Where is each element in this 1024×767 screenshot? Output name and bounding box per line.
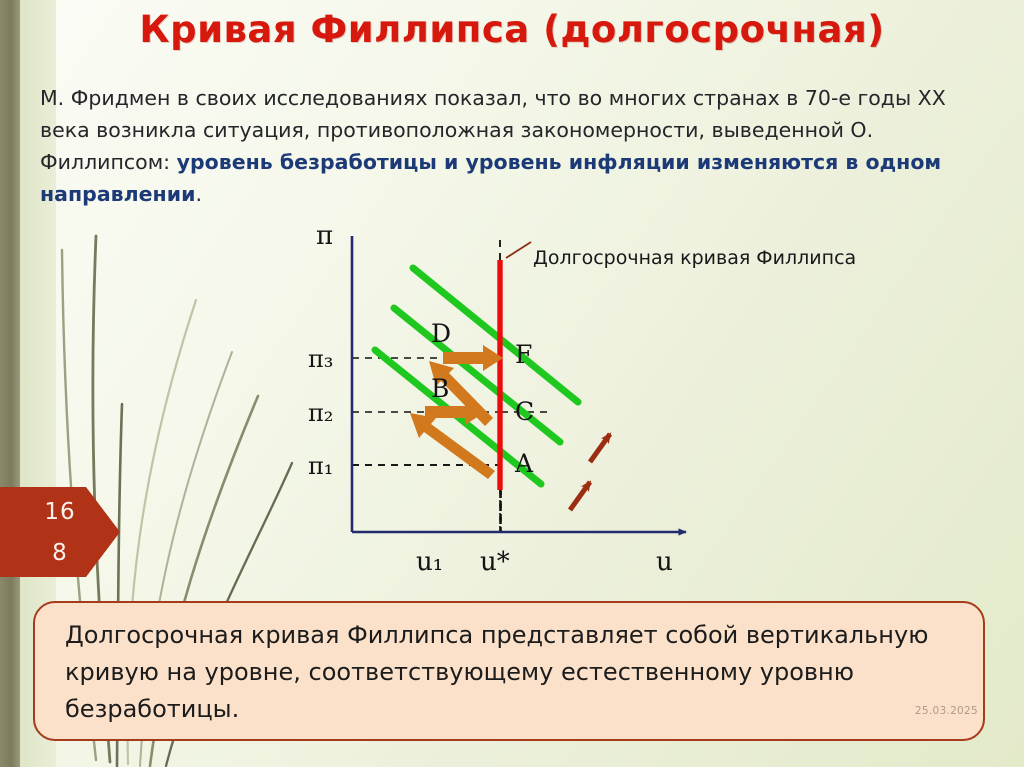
point-label-a: A [514,449,534,478]
x-tick-u1: u₁ [416,547,443,577]
x-tick-ustar: u* [480,547,510,577]
point-label-c: C [515,397,534,426]
page-number-bottom: 8 [0,533,120,574]
conclusion-box: Долгосрочная кривая Филлипса представляе… [33,601,985,741]
point-label-f: F [515,340,532,369]
curve-shift-arrows [570,434,610,510]
point-label-d: D [431,319,451,348]
page-title: Кривая Филлипса (долгосрочная) [60,8,964,51]
left-edge-stripe [0,0,20,767]
x-axis-title: u [656,547,673,577]
slide-canvas: Кривая Филлипса (долгосрочная) М. Фридме… [0,0,1024,767]
y-axis-title: π [316,222,333,251]
phillips-curve-chart: π π₃ π₂ π₁ u₁ u* u D F B C A [288,222,928,582]
shift-arrow-lower [570,482,590,510]
shift-arrow-upper [590,434,610,462]
guide-lines-secondary [352,240,501,532]
paragraph-plain-2: . [195,182,202,206]
y-tick-pi3: π₃ [308,345,333,373]
y-tick-pi1: π₁ [308,452,333,480]
date-stamp: 25.03.2025 [915,705,978,717]
conclusion-text: Долгосрочная кривая Филлипса представляе… [65,617,953,728]
intro-paragraph: М. Фридмен в своих исследованиях показал… [40,82,1000,210]
point-label-b: B [431,374,449,403]
y-tick-pi2: π₂ [308,399,333,427]
page-number-top: 16 [0,492,120,533]
short-run-phillips-curves [375,268,578,484]
page-number-badge: 16 8 [0,487,120,577]
annotation-leader-line [506,242,531,258]
arrow-d-to-f [443,345,503,371]
